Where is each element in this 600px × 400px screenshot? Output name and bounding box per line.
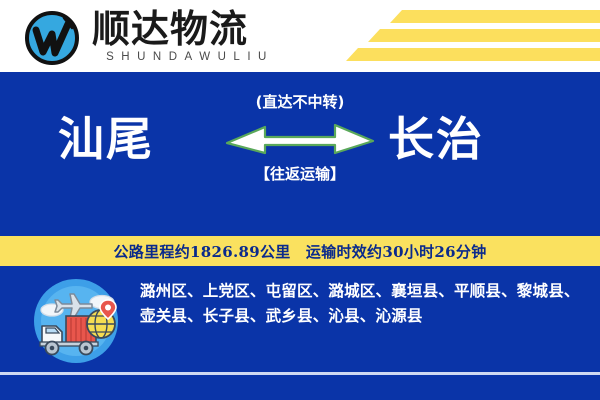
logistics-truck-plane-globe-icon	[30, 278, 122, 364]
stripe-3	[346, 48, 600, 61]
stripe-1	[390, 10, 600, 23]
brand-text-block: 顺达物流 SHUNDAWULIU	[92, 8, 302, 68]
route-note-direct: (直达不中转)	[220, 92, 380, 112]
distance-duration-text: 公路里程约1826.89公里 运输时效约30小时26分钟	[114, 241, 487, 262]
distance-duration-band: 公路里程约1826.89公里 运输时效约30小时26分钟	[0, 236, 600, 266]
brand-name-cn: 顺达物流	[92, 8, 302, 50]
route-middle-block: (直达不中转) 【往返运输】	[220, 92, 380, 212]
destination-city: 长治	[388, 112, 484, 166]
district-list: 潞州区、上党区、屯留区、潞城区、襄垣县、平顺县、黎城县、壶关县、长子县、武乡县、…	[140, 278, 588, 328]
coverage-section: 潞州区、上党区、屯留区、潞城区、襄垣县、平顺县、黎城县、壶关县、长子县、武乡县、…	[0, 266, 600, 372]
stripe-2	[368, 29, 600, 42]
header-bar: 顺达物流 SHUNDAWULIU	[0, 0, 600, 72]
route-section: 汕尾 (直达不中转) 【往返运输】 长治	[0, 72, 600, 236]
brand-name-en: SHUNDAWULIU	[92, 50, 288, 64]
origin-city: 汕尾	[58, 112, 154, 166]
footer-bar	[0, 375, 600, 400]
route-note-roundtrip: 【往返运输】	[220, 164, 380, 184]
double-headed-arrow-icon	[220, 118, 380, 160]
circle-swoosh-logo-icon	[22, 8, 82, 68]
decorative-stripes	[320, 0, 600, 72]
logistics-route-poster: 顺达物流 SHUNDAWULIU 汕尾 (直达不中转) 【往返运输】 长治 公路…	[0, 0, 600, 400]
